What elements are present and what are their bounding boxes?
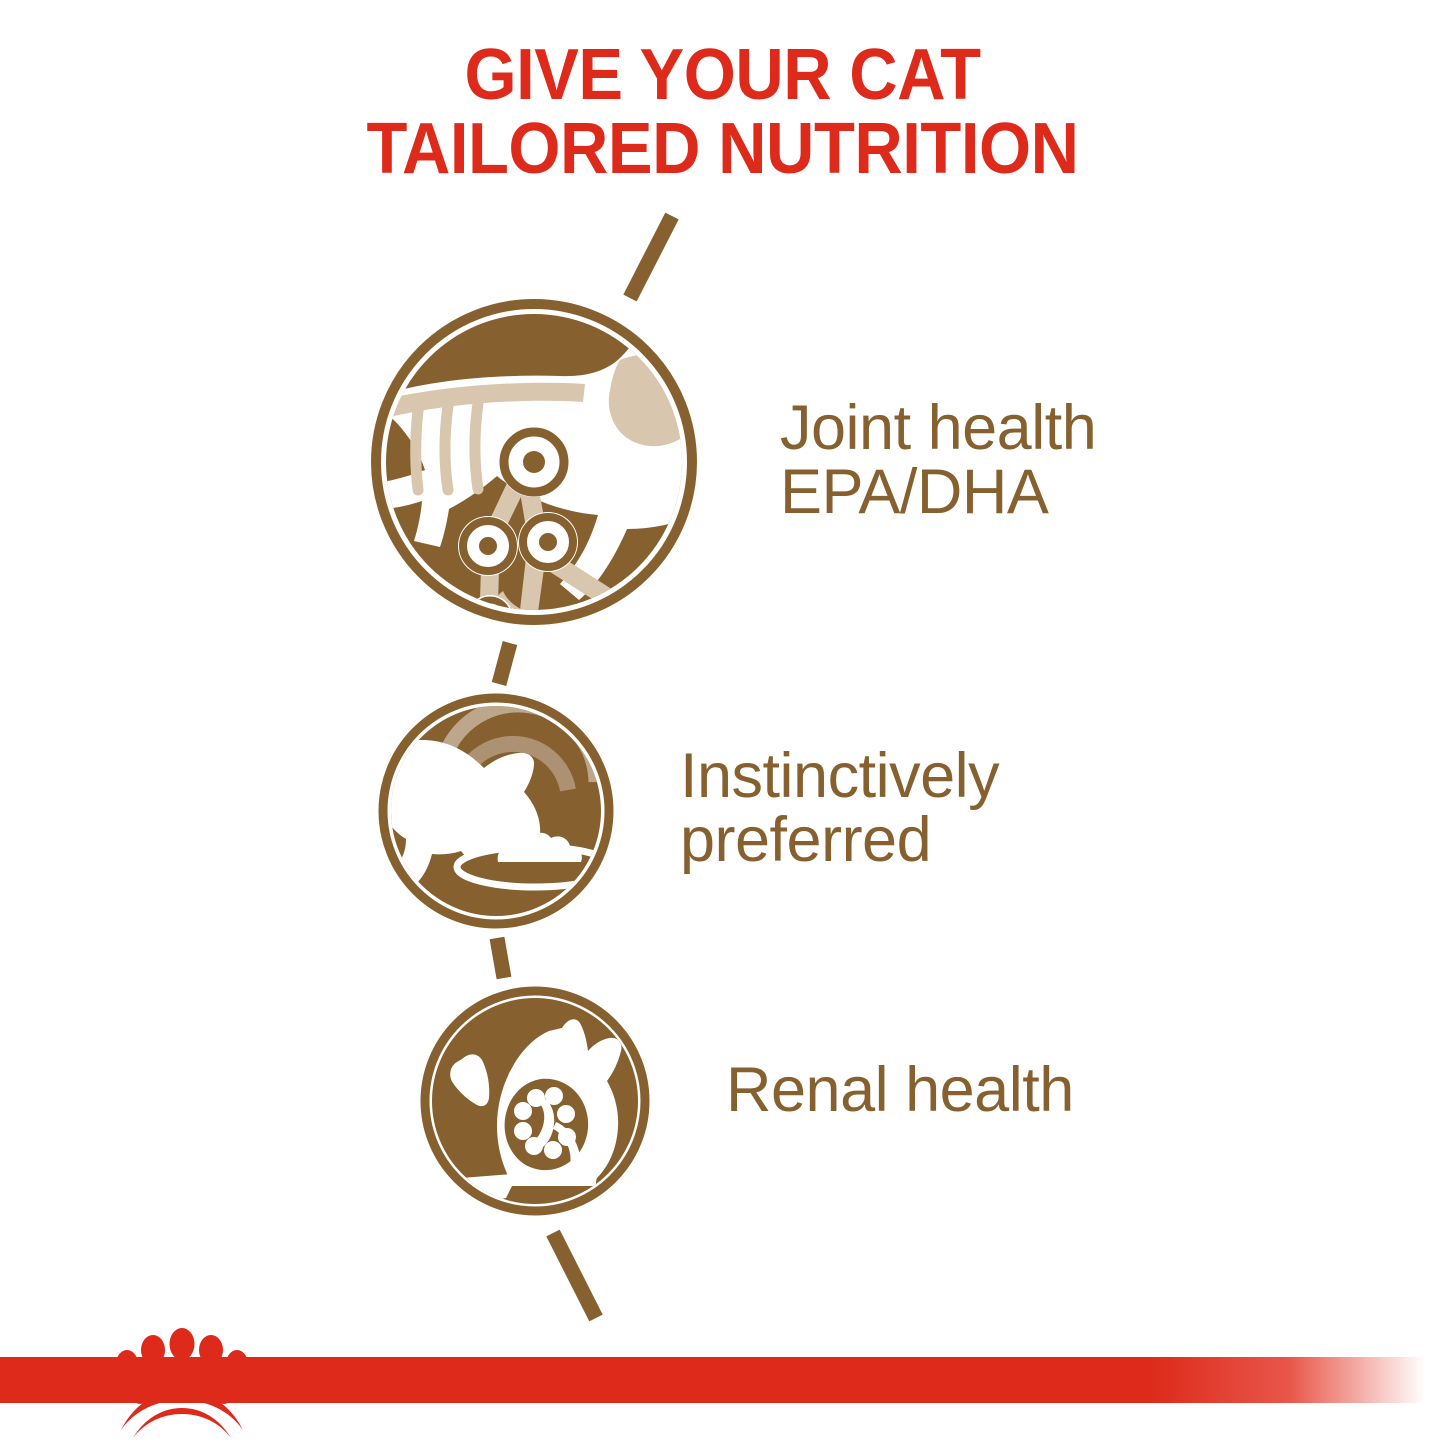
feature-label-instinctively-preferred: Instinctively preferred — [680, 744, 999, 873]
connector-dash-bottom — [553, 1233, 596, 1318]
feature-circle-instinctively-preferred — [363, 698, 613, 924]
feature-label-line-2: preferred — [680, 808, 999, 872]
infographic-canvas: GIVE YOUR CAT TAILORED NUTRITION — [0, 0, 1445, 1445]
feature-label-line-1: Renal health — [726, 1058, 1074, 1122]
feature-label-line-1: Joint health — [780, 396, 1096, 460]
feature-label-line-2: EPA/DHA — [780, 460, 1096, 524]
feature-label-joint-health: Joint health EPA/DHA — [780, 396, 1096, 525]
royal-canin-crown-logo — [95, 1318, 270, 1438]
connector-dash-1-2 — [499, 643, 510, 684]
kidney-organ-icon — [505, 1079, 589, 1172]
feature-circle-joint-health — [368, 304, 745, 685]
connector-dash-2-3 — [497, 938, 504, 978]
feature-label-line-1: Instinctively — [680, 744, 999, 808]
feature-illustrations — [0, 0, 1445, 1445]
feature-label-renal-health: Renal health — [726, 1058, 1074, 1122]
feature-circle-renal-health — [423, 991, 645, 1211]
connector-dash-top — [630, 216, 672, 298]
